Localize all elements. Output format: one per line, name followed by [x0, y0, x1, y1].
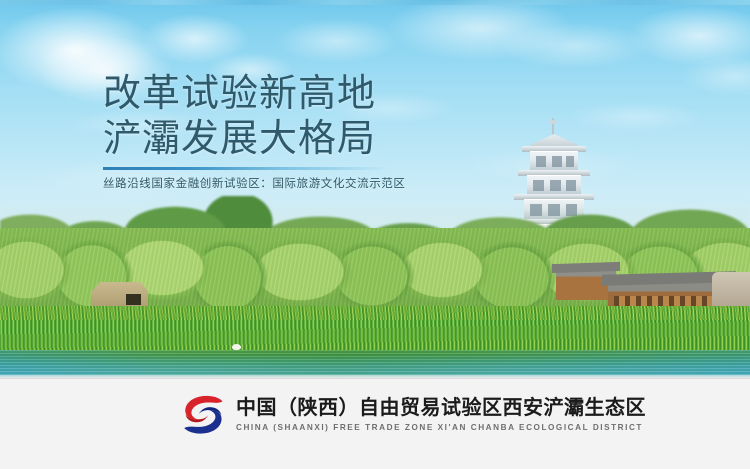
domed-building — [712, 272, 750, 306]
reed-bank — [0, 306, 750, 356]
white-bird — [232, 344, 241, 350]
stone-hut-opening — [126, 294, 141, 305]
pagoda-window — [552, 156, 562, 167]
organization-name-cn: 中国（陕西）自由贸易试验区西安浐灞生态区 — [236, 397, 646, 420]
footer-bar: 中国（陕西）自由贸易试验区西安浐灞生态区 CHINA (SHAANXI) FRE… — [0, 378, 750, 469]
hero-photo: 改革试验新高地 浐灞发展大格局 丝路沿线国家金融创新试验区：国际旅游文化交流示范… — [0, 0, 750, 378]
pagoda-window — [533, 180, 544, 191]
pagoda-window — [566, 156, 574, 167]
footer-text-group: 中国（陕西）自由贸易试验区西安浐灞生态区 CHINA (SHAANXI) FRE… — [236, 397, 646, 433]
lake-water — [0, 350, 750, 378]
sky-top-edge — [0, 0, 750, 5]
subheadline: 丝路沿线国家金融创新试验区：国际旅游文化交流示范区 — [103, 176, 423, 192]
pagoda-window — [536, 156, 546, 167]
headline-block: 改革试验新高地 浐灞发展大格局 丝路沿线国家金融创新试验区：国际旅游文化交流示范… — [103, 72, 423, 192]
pagoda-window — [566, 180, 576, 191]
footer-logo-lockup: 中国（陕西）自由贸易试验区西安浐灞生态区 CHINA (SHAANXI) FRE… — [181, 394, 646, 435]
pagoda-window — [550, 180, 561, 191]
headline-divider — [103, 167, 390, 170]
reed-tips — [0, 306, 750, 320]
banner-page: 改革试验新高地 浐灞发展大格局 丝路沿线国家金融创新试验区：国际旅游文化交流示范… — [0, 0, 750, 469]
pagoda-spire-finial — [549, 120, 557, 124]
organization-name-en: CHINA (SHAANXI) FREE TRADE ZONE XI'AN CH… — [236, 422, 646, 433]
water-reflection — [0, 350, 750, 378]
headline-line-2: 浐灞发展大格局 — [103, 117, 423, 162]
chanba-s-logo-icon — [181, 394, 225, 435]
headline-line-1: 改革试验新高地 — [103, 72, 423, 117]
